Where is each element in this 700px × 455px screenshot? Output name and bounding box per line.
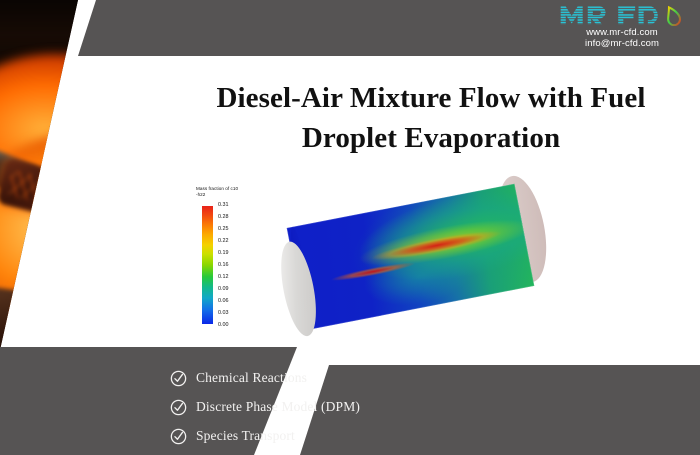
list-item: Discrete Phase Model (DPM) xyxy=(170,395,490,419)
title-line-2: Droplet Evaporation xyxy=(196,118,666,158)
feature-label: Discrete Phase Model (DPM) xyxy=(196,399,360,415)
legend-tick-7: 0.09 xyxy=(218,286,229,292)
cylinder-model xyxy=(276,188,576,328)
ember-glow-lower xyxy=(10,244,168,350)
legend-tick-5: 0.16 xyxy=(218,262,229,268)
header-band: www.mr-cfd.com info@mr-cfd.com xyxy=(0,0,700,56)
brand-logo-block: www.mr-cfd.com info@mr-cfd.com xyxy=(556,4,688,49)
legend-tick-0: 0.31 xyxy=(218,202,229,208)
legend-tick-8: 0.06 xyxy=(218,298,229,304)
legend-tick-1: 0.28 xyxy=(218,214,229,220)
ember-log-right xyxy=(77,235,157,299)
ember-flame-flare xyxy=(101,182,145,204)
cfd-contour-figure: Mass fraction of c10 -h22 0.31 0.28 0.25… xyxy=(190,186,580,336)
title-line-1: Diesel-Air Mixture Flow with Fuel xyxy=(196,78,666,118)
mr-cfd-logo-icon xyxy=(559,4,686,26)
contour-plane xyxy=(287,184,535,330)
legend-title: Mass fraction of c10 -h22 xyxy=(196,186,256,198)
feature-label: Species Transport xyxy=(196,428,295,444)
legend-tick-labels: 0.31 0.28 0.25 0.22 0.19 0.16 0.12 0.09 … xyxy=(218,202,266,328)
legend-tick-6: 0.12 xyxy=(218,274,229,280)
feature-label: Chemical Reactions xyxy=(196,370,307,386)
legend-tick-2: 0.25 xyxy=(218,226,229,232)
check-circle-icon xyxy=(170,428,187,445)
legend-tick-4: 0.19 xyxy=(218,250,229,256)
ember-glow-hotspot xyxy=(50,114,160,194)
legend-tick-3: 0.22 xyxy=(218,238,229,244)
check-circle-icon xyxy=(170,399,187,416)
ember-log-vertical xyxy=(17,223,87,350)
legend-tick-10: 0.00 xyxy=(218,322,229,328)
feature-list: Chemical Reactions Discrete Phase Model … xyxy=(170,366,490,453)
legend-tick-9: 0.03 xyxy=(218,310,229,316)
page-title: Diesel-Air Mixture Flow with Fuel Drople… xyxy=(196,78,666,158)
list-item: Species Transport xyxy=(170,424,490,448)
list-item: Chemical Reactions xyxy=(170,366,490,390)
poster-canvas: www.mr-cfd.com info@mr-cfd.com Diesel-Ai… xyxy=(0,0,700,455)
contour-legend: Mass fraction of c10 -h22 0.31 0.28 0.25… xyxy=(196,186,268,324)
ember-log-bottom xyxy=(0,286,104,350)
legend-title-line-2: -h22 xyxy=(196,192,256,198)
brand-website[interactable]: www.mr-cfd.com xyxy=(556,27,688,38)
brand-email[interactable]: info@mr-cfd.com xyxy=(556,38,688,49)
legend-colorbar xyxy=(202,206,213,324)
check-circle-icon xyxy=(170,370,187,387)
